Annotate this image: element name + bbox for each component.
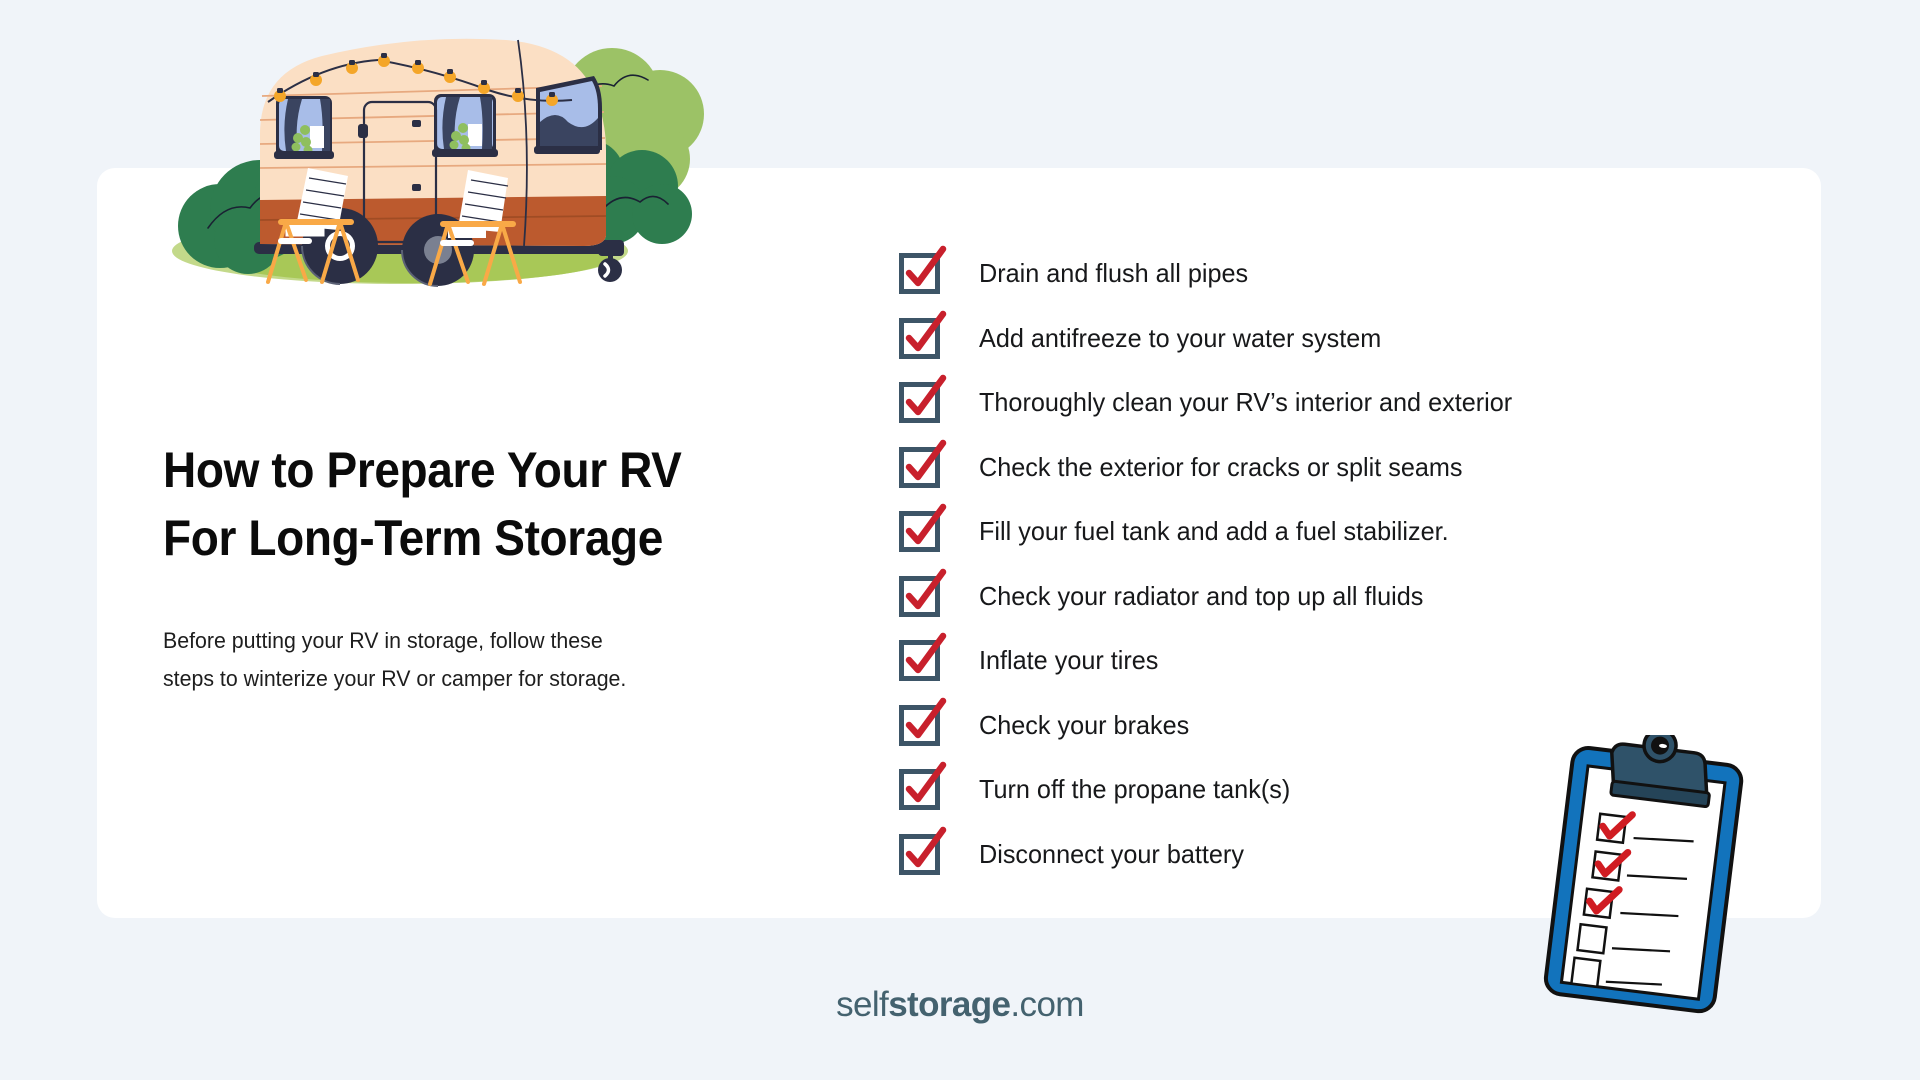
checklist-item[interactable]: Check the exterior for cracks or split s… [901, 435, 1529, 500]
checkbox-checked-icon[interactable] [901, 318, 941, 358]
window-left [274, 96, 334, 159]
checklist-item[interactable]: Check your brakes [901, 693, 1529, 758]
checklist-item-label: Fill your fuel tank and add a fuel stabi… [979, 516, 1449, 546]
checklist-item[interactable]: Add antifreeze to your water system [901, 306, 1529, 371]
checklist-item-label: Add antifreeze to your water system [979, 323, 1381, 353]
checklist-item-label: Drain and flush all pipes [979, 258, 1248, 288]
rv-camper-illustration [150, 14, 710, 324]
checklist-item[interactable]: Thoroughly clean your RV’s interior and … [901, 370, 1529, 435]
selfstorage-logo[interactable]: selfstorage.com [0, 985, 1920, 1025]
checklist-item[interactable]: Drain and flush all pipes [901, 241, 1529, 306]
checkbox-checked-icon[interactable] [901, 511, 941, 551]
checkbox-checked-icon[interactable] [901, 769, 941, 809]
checklist-item[interactable]: Fill your fuel tank and add a fuel stabi… [901, 499, 1529, 564]
checkbox-checked-icon[interactable] [901, 834, 941, 874]
checklist-item-label: Inflate your tires [979, 645, 1158, 675]
window-right [432, 94, 498, 157]
checklist-item[interactable]: Disconnect your battery [901, 822, 1529, 887]
checklist-item-label: Check your brakes [979, 710, 1189, 740]
logo-self: self [836, 985, 888, 1024]
checklist: Drain and flush all pipesAdd antifreeze … [901, 241, 1529, 886]
page-subtitle: Before putting your RV in storage, follo… [163, 622, 842, 698]
checklist-item-label: Check your radiator and top up all fluid… [979, 581, 1423, 611]
headline-block: How to Prepare Your RV For Long-Term Sto… [163, 436, 863, 698]
window-rear [534, 76, 602, 154]
logo-tld: .com [1010, 985, 1083, 1024]
checklist-item-label: Check the exterior for cracks or split s… [979, 452, 1463, 482]
checklist-item[interactable]: Inflate your tires [901, 628, 1529, 693]
checklist-item[interactable]: Turn off the propane tank(s) [901, 757, 1529, 822]
checkbox-checked-icon[interactable] [901, 640, 941, 680]
checklist-item[interactable]: Check your radiator and top up all fluid… [901, 564, 1529, 629]
checkbox-checked-icon[interactable] [901, 576, 941, 616]
page-title: How to Prepare Your RV For Long-Term Sto… [163, 436, 807, 572]
checklist-item-label: Disconnect your battery [979, 839, 1244, 869]
checklist-item-label: Turn off the propane tank(s) [979, 774, 1290, 804]
checklist-item-label: Thoroughly clean your RV’s interior and … [979, 387, 1512, 417]
checkbox-checked-icon[interactable] [901, 705, 941, 745]
checkbox-checked-icon[interactable] [901, 382, 941, 422]
checkbox-checked-icon[interactable] [901, 253, 941, 293]
logo-storage: storage [888, 985, 1010, 1024]
checkbox-checked-icon[interactable] [901, 447, 941, 487]
